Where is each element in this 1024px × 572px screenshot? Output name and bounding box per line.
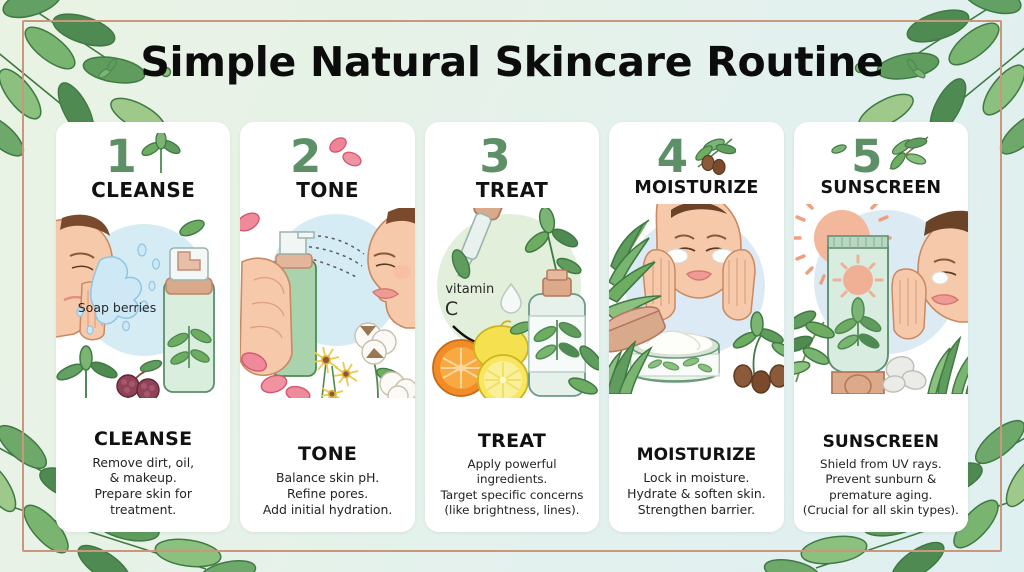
step-card-tone[interactable]: 2 TONE xyxy=(240,122,414,532)
card-header: 5 SUNSCREEN xyxy=(794,122,968,198)
card-header-label: TONE xyxy=(240,178,414,202)
step-title: SUNSCREEN xyxy=(800,432,962,452)
step-description: Balance skin pH. Refine pores. Add initi… xyxy=(246,470,408,518)
dropper-pipette-icon xyxy=(515,133,545,180)
vitamin-label: vitamin xyxy=(445,282,494,297)
step-title: CLEANSE xyxy=(62,428,224,450)
illustration-moisturize xyxy=(609,204,783,439)
step-title: MOISTURIZE xyxy=(615,445,777,465)
step-number-row: 3 xyxy=(425,132,599,180)
step-card-sunscreen[interactable]: 5 SUNSCREEN xyxy=(794,122,968,532)
step-number-row: 2 xyxy=(240,132,414,180)
step-number: 1 xyxy=(106,134,137,179)
card-footer: SUNSCREEN Shield from UV rays. Prevent s… xyxy=(794,426,968,532)
card-footer: CLEANSE Remove dirt, oil, & makeup. Prep… xyxy=(56,422,230,533)
step-title: TREAT xyxy=(431,430,593,452)
step-number: 2 xyxy=(290,134,321,179)
illustration-treat: vitamin C xyxy=(425,208,599,424)
step-number: 4 xyxy=(657,134,688,179)
card-header-label: SUNSCREEN xyxy=(794,178,968,198)
step-number-row: 1 xyxy=(56,132,230,180)
tea-leaf-sprig-icon xyxy=(141,133,181,180)
step-description: Remove dirt, oil, & makeup. Prepare skin… xyxy=(62,455,224,519)
leaf-sprig-icon xyxy=(96,56,122,87)
step-card-cleanse[interactable]: 1 CLEANSE xyxy=(56,122,230,532)
step-card-treat[interactable]: 3 TREAT xyxy=(425,122,599,532)
step-number: 5 xyxy=(851,134,882,179)
card-header: 1 CLEANSE xyxy=(56,122,230,202)
illustration-cleanse: Soap berries xyxy=(56,208,230,422)
card-footer: TREAT Apply powerful ingredients. Target… xyxy=(425,424,599,532)
leaf-sprig-icon xyxy=(902,56,928,87)
steps-card-row: 1 CLEANSE xyxy=(56,122,968,532)
card-header: 2 TONE xyxy=(240,122,414,202)
soap-berries-caption: Soap berries xyxy=(74,301,160,315)
card-header-label: CLEANSE xyxy=(56,178,230,202)
illustration-tone xyxy=(240,208,414,437)
small-leaf-icon xyxy=(831,133,847,180)
step-description: Lock in moisture. Hydrate & soften skin.… xyxy=(615,470,777,518)
jojoba-branch-icon xyxy=(692,133,736,180)
step-card-moisturize[interactable]: 4 MOISTURIZE xyxy=(609,122,783,532)
page-title-area: Simple Natural Skincare Routine xyxy=(0,38,1024,87)
step-number-row: 5 xyxy=(794,132,968,180)
vitamin-c-caption: vitamin C xyxy=(431,283,509,321)
step-description: Shield from UV rays. Prevent sunburn & p… xyxy=(800,457,962,518)
card-header-label: MOISTURIZE xyxy=(609,178,783,198)
applying-cream-icon xyxy=(609,204,783,394)
vitamin-c-letter: C xyxy=(431,299,509,321)
step-number: 3 xyxy=(479,134,510,179)
spraying-toner-icon xyxy=(240,208,414,398)
step-title: TONE xyxy=(246,443,408,465)
card-header: 3 TREAT xyxy=(425,122,599,202)
rose-petal-icon xyxy=(325,133,365,180)
illustration-sunscreen xyxy=(794,204,968,426)
page-title: Simple Natural Skincare Routine xyxy=(140,38,883,86)
card-header: 4 MOISTURIZE xyxy=(609,122,783,198)
infographic-canvas: Simple Natural Skincare Routine 1 xyxy=(0,0,1024,572)
step-number-row: 4 xyxy=(609,132,783,180)
sunscreen-tube-icon xyxy=(794,204,968,394)
step-description: Apply powerful ingredients. Target speci… xyxy=(431,457,593,518)
olive-branch-icon xyxy=(886,133,930,180)
card-header-label: TREAT xyxy=(425,178,599,202)
card-footer: TONE Balance skin pH. Refine pores. Add … xyxy=(240,437,414,532)
card-footer: MOISTURIZE Lock in moisture. Hydrate & s… xyxy=(609,439,783,532)
